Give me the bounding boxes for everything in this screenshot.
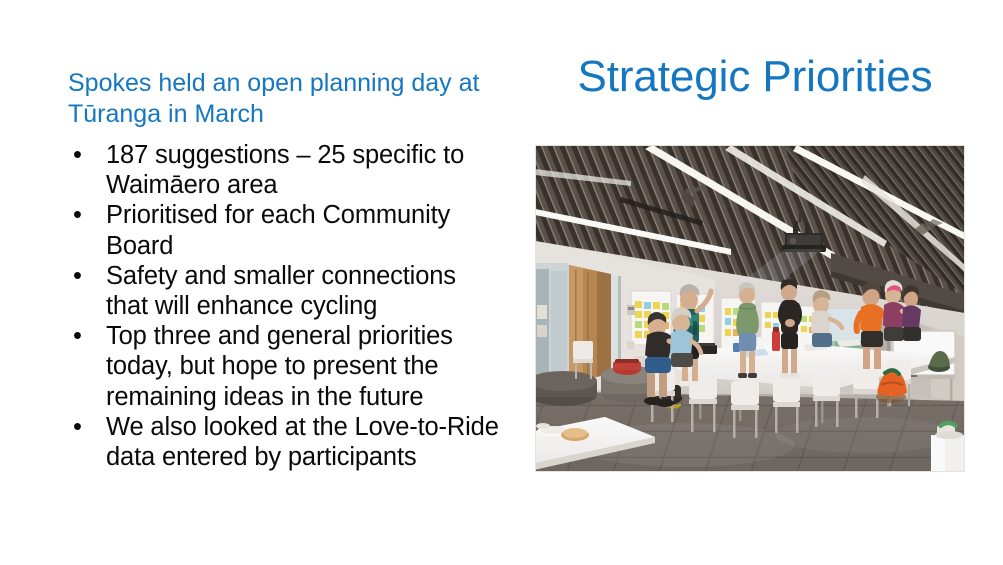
bullet-marker-icon: • <box>73 140 82 170</box>
list-item: • Top three and general priorities today… <box>68 321 500 412</box>
bullet-list: • 187 suggestions – 25 specific to Waimā… <box>68 140 500 472</box>
list-item: • We also looked at the Love-to-Ride dat… <box>68 412 500 472</box>
list-item: • 187 suggestions – 25 specific to Waimā… <box>68 140 500 200</box>
bullet-marker-icon: • <box>73 412 82 442</box>
bullet-marker-icon: • <box>73 261 82 291</box>
bullet-marker-icon: • <box>73 200 82 230</box>
workshop-photo <box>535 145 965 472</box>
list-item-label: We also looked at the Love-to-Ride data … <box>106 413 499 471</box>
workshop-photo-illustration <box>535 145 965 472</box>
list-item-label: Prioritised for each Community Board <box>106 201 450 259</box>
bullet-marker-icon: • <box>73 321 82 351</box>
lead-heading: Spokes held an open planning day at Tūra… <box>68 68 513 129</box>
list-item-label: Safety and smaller connections that will… <box>106 262 456 320</box>
slide-canvas: Strategic Priorities Spokes held an open… <box>0 0 1003 565</box>
list-item-label: Top three and general priorities today, … <box>106 322 453 410</box>
page-title: Strategic Priorities <box>530 54 980 100</box>
list-item: • Safety and smaller connections that wi… <box>68 261 500 321</box>
list-item-label: 187 suggestions – 25 specific to Waimāer… <box>106 141 464 199</box>
list-item: • Prioritised for each Community Board <box>68 200 500 260</box>
